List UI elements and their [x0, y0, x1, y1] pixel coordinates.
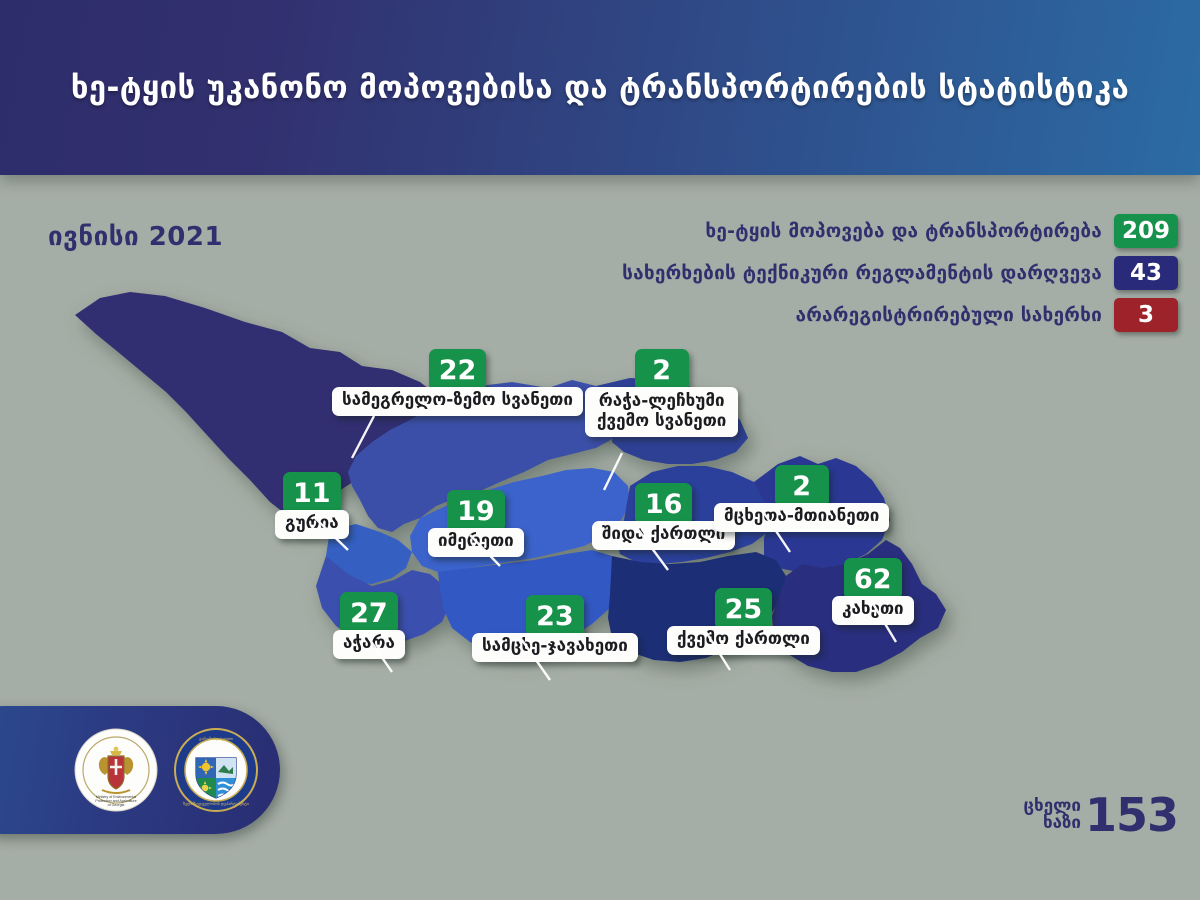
- marker-label: სამცხე-ჯავახეთი: [472, 633, 638, 662]
- ministry-emblem-icon: Ministry of Environmental Protection and…: [74, 728, 158, 812]
- marker-value: 11: [283, 472, 341, 514]
- marker-value: 2: [775, 465, 829, 507]
- map-marker-racha-lechkhumi[interactable]: 2 რაჭა-ლეჩხუმიქვემო სვანეთი: [585, 349, 738, 437]
- marker-value: 16: [635, 483, 693, 525]
- marker-value: 19: [447, 490, 505, 532]
- marker-label: კახეთი: [832, 596, 914, 625]
- map-marker-kakheti[interactable]: 62 კახეთი: [832, 558, 914, 625]
- hotline-label: ცხელი ხაზი: [1023, 798, 1081, 833]
- map-marker-mtskheta-mtianeti[interactable]: 2 მცხეთა-მთიანეთი: [714, 465, 889, 532]
- hotline: ცხელი ხაზი 153: [1023, 788, 1178, 842]
- marker-label: ქვემო ქართლი: [667, 626, 820, 655]
- svg-text:ზედამხედველობის დეპარტამენტი: ზედამხედველობის დეპარტამენტი: [183, 801, 249, 806]
- marker-value: 23: [526, 595, 584, 637]
- map-marker-adjara[interactable]: 27 აჭარა: [333, 592, 405, 659]
- map-marker-imereti[interactable]: 19 იმერეთი: [428, 490, 524, 557]
- marker-value: 22: [429, 349, 487, 391]
- marker-label: გურია: [275, 510, 349, 539]
- svg-text:გარემოსდაცვითი: გარემოსდაცვითი: [199, 736, 233, 741]
- marker-value: 62: [844, 558, 902, 600]
- marker-label: მცხეთა-მთიანეთი: [714, 503, 889, 532]
- marker-value: 2: [635, 349, 689, 391]
- map-container: 22 სამეგრელო-ზემო სვანეთი 2 რაჭა-ლეჩხუმი…: [0, 180, 1200, 780]
- agency-emblem-icon: გარემოსდაცვითი ზედამხედველობის დეპარტამე…: [174, 728, 258, 812]
- marker-label: იმერეთი: [428, 528, 524, 557]
- map-marker-samegrelo[interactable]: 22 სამეგრელო-ზემო სვანეთი: [332, 349, 583, 416]
- hotline-number: 153: [1085, 788, 1178, 842]
- map-marker-kvemo-kartli[interactable]: 25 ქვემო ქართლი: [667, 588, 820, 655]
- page-header: ხე-ტყის უკანონო მოპოვებისა და ტრანსპორტი…: [0, 0, 1200, 175]
- marker-label: აჭარა: [333, 630, 405, 659]
- svg-text:of Georgia: of Georgia: [108, 803, 125, 807]
- map-marker-samtskhe-javakheti[interactable]: 23 სამცხე-ჯავახეთი: [472, 595, 638, 662]
- marker-label: რაჭა-ლეჩხუმიქვემო სვანეთი: [585, 387, 738, 437]
- marker-value: 27: [340, 592, 398, 634]
- marker-value: 25: [715, 588, 773, 630]
- hotline-line2: ხაზი: [1043, 815, 1081, 832]
- georgia-map-svg: [0, 180, 1200, 780]
- logo-pill: Ministry of Environmental Protection and…: [0, 706, 280, 834]
- page-title: ხე-ტყის უკანონო მოპოვებისა და ტრანსპორტი…: [71, 70, 1129, 106]
- marker-label: სამეგრელო-ზემო სვანეთი: [332, 387, 583, 416]
- map-marker-guria[interactable]: 11 გურია: [275, 472, 349, 539]
